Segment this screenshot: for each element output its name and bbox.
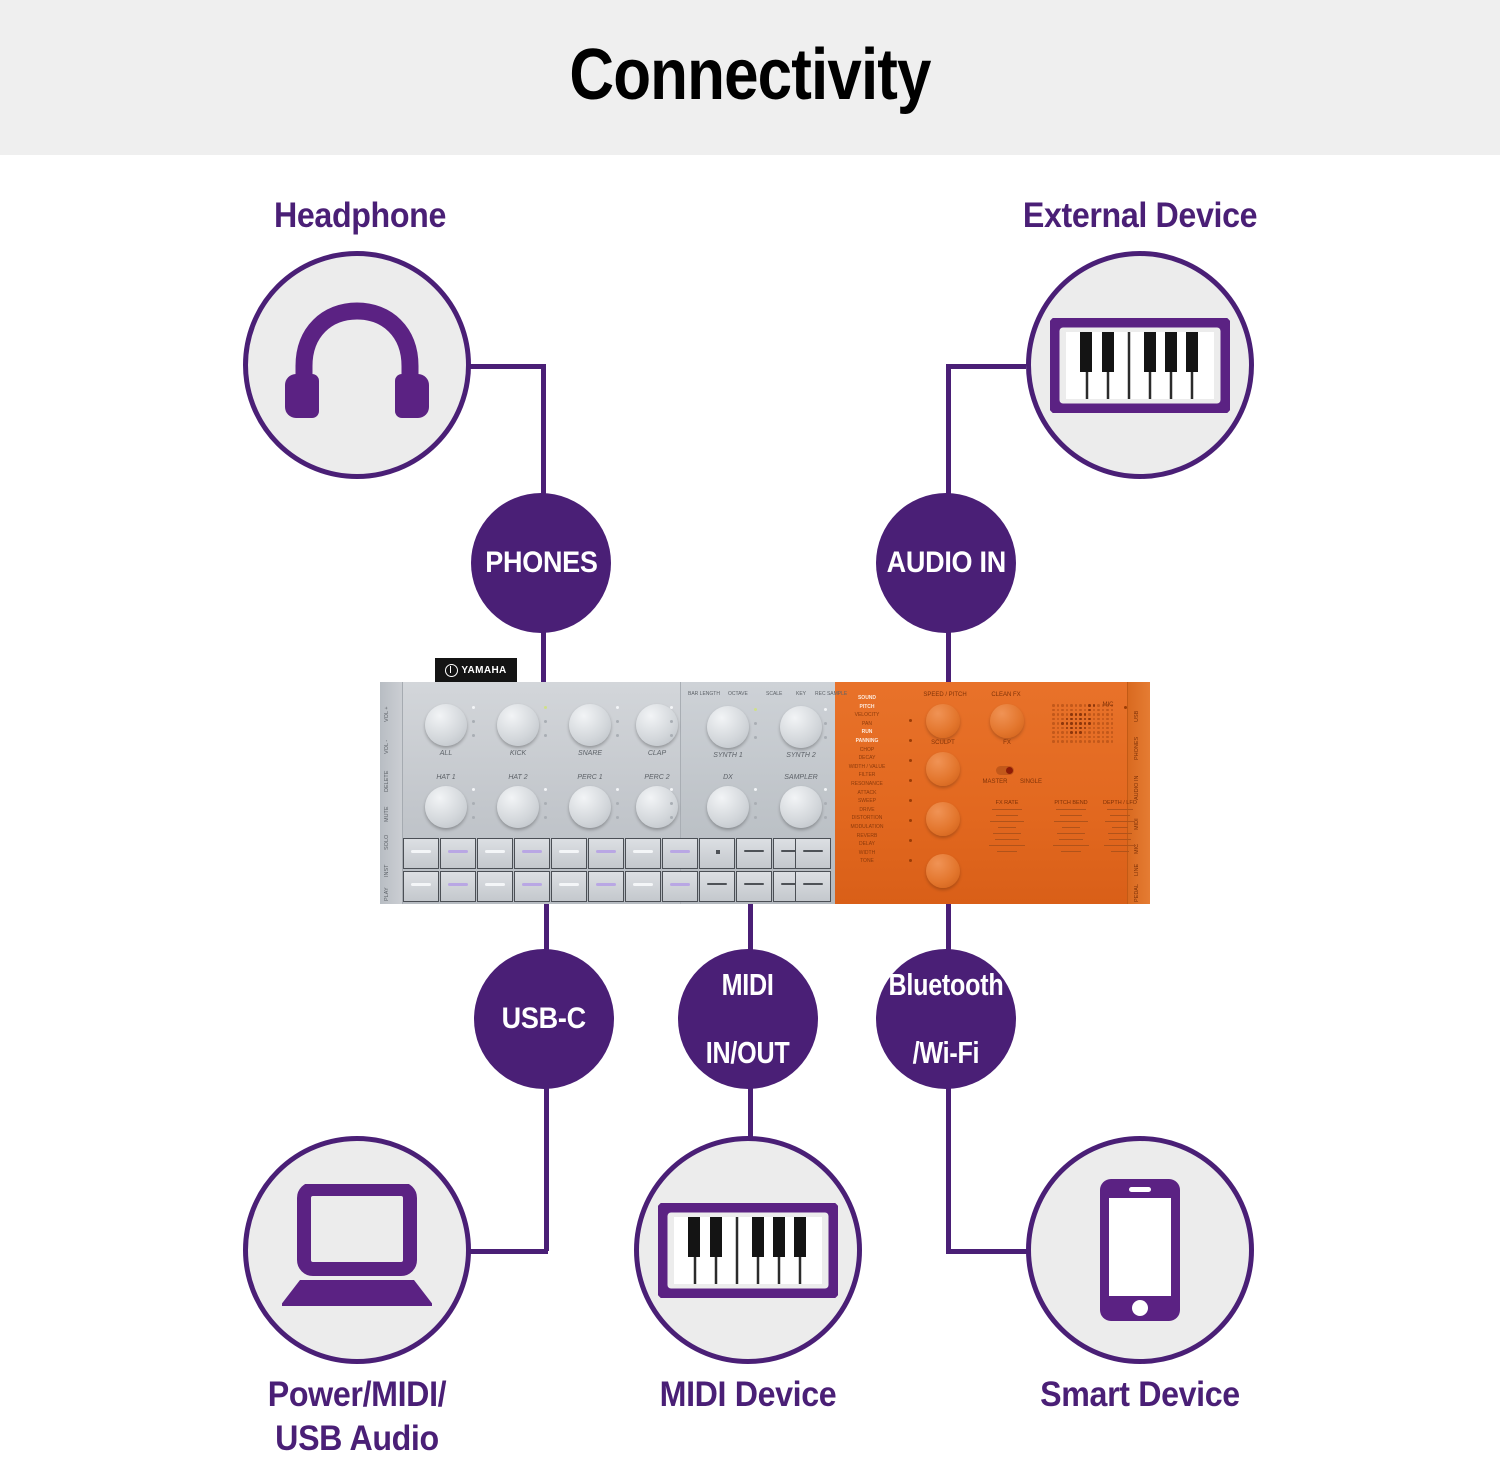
- edge-label-audio-in: AUDIO IN: [1134, 776, 1140, 800]
- orange-led-1: [909, 719, 912, 722]
- param-distortion: DISTORTION: [838, 814, 896, 823]
- led-synth1-1: [754, 708, 757, 711]
- led-kick-1: [544, 706, 547, 709]
- strip-label-bar-length: BAR LENGTH: [688, 691, 720, 697]
- param-tone: TONE: [838, 857, 896, 866]
- connectivity-diagram: Connectivity Headphone External Device: [0, 0, 1500, 1454]
- led-perc1-2: [616, 802, 619, 805]
- knob-sculpt-3[interactable]: [926, 802, 960, 836]
- led-perc2-2: [670, 802, 673, 805]
- mic-label: MIC: [1096, 702, 1120, 708]
- knob-sampler[interactable]: [780, 786, 822, 828]
- strip-label-octave: OCTAVE: [728, 691, 748, 697]
- edge-label-pedal: PEDAL: [1134, 884, 1140, 902]
- led-snare-3: [616, 734, 619, 737]
- orange-led-7: [909, 839, 912, 842]
- port-phones[interactable]: PHONES: [471, 493, 611, 633]
- orange-led-4: [909, 779, 912, 782]
- pad-led-15: [485, 883, 505, 886]
- led-perc2-1: [670, 788, 673, 791]
- line-external-to-audioin-v: [946, 364, 951, 514]
- led-synth2-1: [824, 708, 827, 711]
- param-run: RUN: [838, 728, 896, 737]
- led-clap-1: [670, 706, 673, 709]
- knob-clap[interactable]: [636, 704, 678, 746]
- port-midi-line2: IN/OUT: [706, 1036, 790, 1070]
- edge-label-line: LINE: [1134, 864, 1140, 876]
- orange-led-5: [909, 799, 912, 802]
- led-synth1-3: [754, 736, 757, 739]
- slider-group-fx-rate: FX RATE: [978, 800, 1036, 857]
- pad-led-18: [596, 883, 616, 886]
- pad-led-8: [670, 850, 690, 853]
- pad-led-2: [448, 850, 468, 853]
- yamaha-logo: YAMAHA: [435, 658, 517, 682]
- param-modulation: MODULATION: [838, 823, 896, 832]
- knob-perc2[interactable]: [636, 786, 678, 828]
- slider-group-depth-lfo: DEPTH / LFO: [1094, 800, 1146, 857]
- pad-14[interactable]: [440, 871, 476, 902]
- led-kick-3: [544, 734, 547, 737]
- led-synth2-2: [824, 722, 827, 725]
- pad-5[interactable]: [551, 838, 587, 869]
- param-sound: SOUND: [838, 694, 896, 703]
- device-label-computer: Power/MIDI/ USB Audio: [191, 1373, 522, 1461]
- orange-knob-label-fx: FX: [984, 740, 1030, 746]
- param-width: WIDTH / VALUE: [838, 763, 896, 772]
- pad-led-3: [485, 850, 505, 853]
- port-audio-in[interactable]: AUDIO IN: [876, 493, 1016, 633]
- led-perc1-3: [616, 816, 619, 819]
- pad-led-1: [411, 850, 431, 853]
- pad-2[interactable]: [440, 838, 476, 869]
- pad-6[interactable]: [588, 838, 624, 869]
- edge-label-inst: INST: [384, 864, 390, 877]
- param-drive: DRIVE: [838, 806, 896, 815]
- pad-13[interactable]: [403, 871, 439, 902]
- pad-9[interactable]: [699, 838, 735, 869]
- knob-snare[interactable]: [569, 704, 611, 746]
- led-clap-3: [670, 734, 673, 737]
- orange-knob-label-sculpt: SCULPT: [920, 740, 966, 746]
- led-dx-3: [754, 816, 757, 819]
- pad-led-9: [716, 850, 720, 854]
- line-bluetooth-to-smart-v: [946, 1066, 951, 1251]
- pad-led-10: [744, 850, 764, 852]
- device-label-mididevice: MIDI Device: [582, 1373, 913, 1417]
- pad-led-21: [707, 883, 727, 885]
- param-attack: ATTACK: [838, 789, 896, 798]
- param-resonance: RESONANCE: [838, 780, 896, 789]
- strip-label-key: KEY: [796, 691, 806, 697]
- knob-label-kick: KICK: [497, 750, 539, 757]
- keyboard-icon: [1043, 311, 1237, 419]
- knob-label-synth1: SYNTH 1: [702, 752, 754, 759]
- line-headphone-to-phones-v: [541, 364, 546, 514]
- speaker-grille: [1052, 704, 1113, 743]
- toggle-label-master: MASTER: [978, 779, 1012, 785]
- pad-led-19: [633, 883, 653, 886]
- pad-led-7: [633, 850, 653, 853]
- mic-led: [1124, 706, 1127, 709]
- knob-perc1[interactable]: [569, 786, 611, 828]
- edge-label-vol-minus: VOL -: [384, 740, 390, 754]
- pad-led-4: [522, 850, 542, 853]
- yamaha-tuningfork-icon: [445, 664, 458, 677]
- knob-dx[interactable]: [707, 786, 749, 828]
- toggle-label-single: SINGLE: [1014, 779, 1048, 785]
- led-perc2-3: [670, 816, 673, 819]
- port-bluetooth-line1: Bluetooth: [889, 968, 1004, 1002]
- led-hat2-2: [544, 802, 547, 805]
- slider-group-pitch-bend: PITCH BEND: [1042, 800, 1100, 857]
- device-label-computer-line1: Power/MIDI/: [268, 1375, 446, 1414]
- yamaha-wordmark: YAMAHA: [461, 665, 506, 676]
- orange-led-8: [909, 859, 912, 862]
- pad-4[interactable]: [514, 838, 550, 869]
- led-hat1-1: [472, 788, 475, 791]
- pad-22[interactable]: [736, 871, 772, 902]
- param-filter: FILTER: [838, 771, 896, 780]
- toggle-knob: [1006, 767, 1013, 774]
- param-chop: CHOP: [838, 746, 896, 755]
- pad-led-6: [596, 850, 616, 853]
- orange-parameter-list: SOUND PITCH VELOCITY PAN RUN PANNING CHO…: [838, 694, 896, 866]
- led-snare-1: [616, 706, 619, 709]
- pad-15[interactable]: [477, 871, 513, 902]
- port-bluetooth-line2: /Wi-Fi: [889, 1036, 1004, 1070]
- pad-led-22: [744, 883, 764, 885]
- pad-led-16: [522, 883, 542, 886]
- pad-1[interactable]: [403, 838, 439, 869]
- edge-label-delete: DELETE: [384, 771, 390, 792]
- slider-label-pitch-bend: PITCH BEND: [1042, 800, 1100, 806]
- page-title: Connectivity: [105, 32, 1395, 118]
- master-single-toggle[interactable]: [996, 766, 1014, 775]
- pad-led-14: [448, 883, 468, 886]
- pad-20[interactable]: [662, 871, 698, 902]
- knob-all[interactable]: [425, 704, 467, 746]
- pad-led-20: [670, 883, 690, 886]
- param-reverb: REVERB: [838, 832, 896, 841]
- knob-kick[interactable]: [497, 704, 539, 746]
- led-synth1-2: [754, 722, 757, 725]
- pad-24[interactable]: [795, 871, 831, 902]
- knob-label-clap: CLAP: [636, 750, 678, 757]
- led-sampler-2: [824, 802, 827, 805]
- edge-label-solo: SOLO: [384, 835, 390, 850]
- port-phones-label: PHONES: [485, 548, 597, 579]
- knob-label-snare: SNARE: [569, 750, 611, 757]
- edge-label-vol-plus: VOL +: [384, 706, 390, 722]
- device-label-smart: Smart Device: [974, 1373, 1305, 1417]
- pad-3[interactable]: [477, 838, 513, 869]
- edge-label-usb: USB: [1134, 711, 1140, 722]
- pad-8[interactable]: [662, 838, 698, 869]
- led-all-3: [472, 734, 475, 737]
- param-width2: WIDTH: [838, 849, 896, 858]
- knob-label-perc1: PERC 1: [569, 774, 611, 781]
- slider-label-depth-lfo: DEPTH / LFO: [1094, 800, 1146, 806]
- slider-label-fx-rate: FX RATE: [978, 800, 1036, 806]
- param-decay: DECAY: [838, 754, 896, 763]
- led-snare-2: [616, 720, 619, 723]
- pad-led-13: [411, 883, 431, 886]
- orange-knob-top-label-speed: SPEED / PITCH: [910, 692, 980, 698]
- port-usb-c-label: USB-C: [502, 1004, 586, 1035]
- knob-label-hat2: HAT 2: [497, 774, 539, 781]
- pad-12[interactable]: [795, 838, 831, 869]
- led-all-1: [472, 706, 475, 709]
- line-bluetooth-to-smart-h: [946, 1249, 1028, 1254]
- knob-label-hat1: HAT 1: [425, 774, 467, 781]
- pad-19[interactable]: [625, 871, 661, 902]
- edge-label-phones: PHONES: [1134, 737, 1140, 760]
- pad-7[interactable]: [625, 838, 661, 869]
- knob-hat1[interactable]: [425, 786, 467, 828]
- port-bluetooth-wifi[interactable]: Bluetooth /Wi-Fi: [876, 949, 1016, 1089]
- led-hat1-2: [472, 802, 475, 805]
- keyboard-icon: [651, 1196, 845, 1304]
- param-pan: PAN: [838, 720, 896, 729]
- pad-led-12: [803, 850, 823, 852]
- knob-sculpt-1[interactable]: [926, 704, 960, 738]
- port-usb-c[interactable]: USB-C: [474, 949, 614, 1089]
- knob-label-synth2: SYNTH 2: [775, 752, 827, 759]
- param-sweep: SWEEP: [838, 797, 896, 806]
- knob-synth1[interactable]: [707, 706, 749, 748]
- led-all-2: [472, 720, 475, 723]
- line-usbc-to-computer-v: [544, 1066, 549, 1251]
- led-hat1-3: [472, 816, 475, 819]
- led-dx-1: [754, 788, 757, 791]
- port-midi-line1: MIDI: [706, 968, 790, 1002]
- pad-led-24: [803, 883, 823, 885]
- pad-17[interactable]: [551, 871, 587, 902]
- pad-led-5: [559, 850, 579, 853]
- port-bluetooth-wifi-label: Bluetooth /Wi-Fi: [882, 968, 1010, 1070]
- led-hat2-1: [544, 788, 547, 791]
- knob-hat2[interactable]: [497, 786, 539, 828]
- port-audio-in-label: AUDIO IN: [886, 548, 1005, 579]
- laptop-icon: [278, 1178, 436, 1318]
- pad-led-17: [559, 883, 579, 886]
- param-velocity: VELOCITY: [838, 711, 896, 720]
- param-panning: PANNING: [838, 737, 896, 746]
- edge-label-play: PLAY: [384, 887, 390, 901]
- line-headphone-to-phones-h: [466, 364, 546, 369]
- orange-led-6: [909, 819, 912, 822]
- orange-led-2: [909, 739, 912, 742]
- orange-led-3: [909, 759, 912, 762]
- line-usbc-to-computer-h: [466, 1249, 548, 1254]
- knob-synth2[interactable]: [780, 706, 822, 748]
- pad-18[interactable]: [588, 871, 624, 902]
- orange-knob-top-label-clean: CLEAN FX: [976, 692, 1036, 698]
- pad-21[interactable]: [699, 871, 735, 902]
- knob-label-dx: DX: [702, 774, 754, 781]
- edge-label-mute: MUTE: [384, 806, 390, 822]
- yamaha-hardware-unit: YAMAHA VOL + VOL - DELETE MUTE SOLO INST…: [380, 682, 1150, 904]
- strip-label-scale: SCALE: [766, 691, 782, 697]
- led-hat2-3: [544, 816, 547, 819]
- knob-sculpt-2[interactable]: [926, 752, 960, 786]
- led-clap-2: [670, 720, 673, 723]
- pad-10[interactable]: [736, 838, 772, 869]
- device-label-computer-line2: USB Audio: [275, 1419, 439, 1458]
- knob-label-perc2: PERC 2: [636, 774, 678, 781]
- param-delay: DELAY: [838, 840, 896, 849]
- knob-label-sampler: SAMPLER: [775, 774, 827, 781]
- smartphone-icon: [1092, 1174, 1188, 1326]
- led-dx-2: [754, 802, 757, 805]
- led-perc1-1: [616, 788, 619, 791]
- device-label-headphone: Headphone: [194, 194, 525, 238]
- device-label-external: External Device: [974, 194, 1305, 238]
- headphone-icon: [273, 281, 441, 449]
- knob-fx[interactable]: [990, 704, 1024, 738]
- led-sampler-3: [824, 816, 827, 819]
- port-midi-in-out-label: MIDI IN/OUT: [702, 968, 795, 1070]
- led-synth2-3: [824, 736, 827, 739]
- param-pitch: PITCH: [838, 703, 896, 712]
- led-kick-2: [544, 720, 547, 723]
- knob-label-all: ALL: [425, 750, 467, 757]
- pad-16[interactable]: [514, 871, 550, 902]
- knob-sculpt-4[interactable]: [926, 854, 960, 888]
- port-midi-in-out[interactable]: MIDI IN/OUT: [678, 949, 818, 1089]
- line-external-to-audioin-h: [946, 364, 1026, 369]
- led-sampler-1: [824, 788, 827, 791]
